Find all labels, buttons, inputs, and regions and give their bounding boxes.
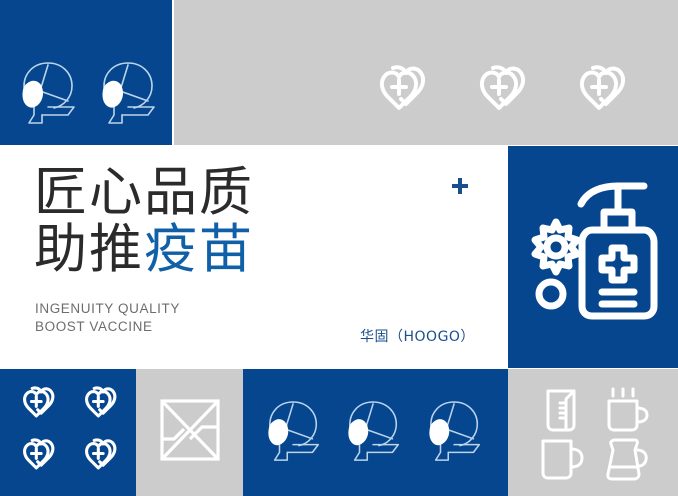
poster-canvas: 匠心品质 助推疫苗 INGENUITY QUALITY BOOST VACCIN…: [0, 0, 678, 496]
subtitle-line-2: BOOST VACCINE: [35, 318, 180, 336]
bottom-hearts-grid: [6, 381, 130, 485]
subtitle-line-1: INGENUITY QUALITY: [35, 300, 180, 318]
bottom-masked-face-row: [255, 387, 496, 479]
bottom-hearts-panel: [0, 369, 136, 496]
masked-face-icon: [344, 396, 406, 470]
double-heart-plus-icon: [70, 385, 128, 429]
headline-block: 匠心品质 助推疫苗: [34, 164, 254, 278]
double-heart-plus-icon: [558, 63, 642, 127]
bottom-masks-panel: [243, 369, 508, 496]
headline-line-1: 匠心品质: [34, 164, 254, 221]
double-heart-plus-icon: [8, 385, 66, 429]
beaker-icon: [540, 387, 582, 433]
masked-face-icon: [264, 396, 326, 470]
kettle-icon: [601, 436, 651, 482]
brand-label: 华固（HOOGO）: [360, 326, 475, 346]
plus-cross-icon: [450, 176, 470, 196]
top-band: [0, 0, 678, 145]
subtitle-block: INGENUITY QUALITY BOOST VACCINE: [35, 300, 180, 336]
bottom-vessels-panel: [508, 369, 678, 496]
masked-face-icon: [18, 57, 82, 133]
vessels-grid: [528, 385, 658, 483]
mug-icon: [537, 437, 585, 481]
broken-image-placeholder-icon: [158, 395, 222, 465]
top-blue-panel: [0, 0, 172, 145]
double-heart-plus-icon: [8, 437, 66, 481]
headline-line-2-accent: 疫苗: [144, 219, 254, 280]
double-heart-plus-icon: [70, 437, 128, 481]
masked-face-icon: [425, 396, 487, 470]
double-heart-plus-icon: [458, 63, 542, 127]
double-heart-plus-icon: [658, 63, 678, 127]
top-masked-face-row: [10, 50, 170, 140]
headline-card: 匠心品质 助推疫苗 INGENUITY QUALITY BOOST VACCIN…: [0, 146, 505, 368]
top-gray-panel: [174, 0, 678, 145]
double-heart-plus-icon: [358, 63, 442, 127]
sanitizer-illustration: [526, 178, 662, 334]
headline-line-2-dark: 助推: [34, 219, 144, 280]
steaming-mug-icon: [602, 387, 650, 433]
bottom-band: [0, 369, 678, 496]
masked-face-icon: [98, 57, 162, 133]
right-blue-panel: [508, 146, 678, 368]
top-hearts-row: [350, 52, 678, 138]
bottom-placeholder-panel: [136, 369, 243, 496]
headline-line-2: 助推疫苗: [34, 221, 254, 278]
